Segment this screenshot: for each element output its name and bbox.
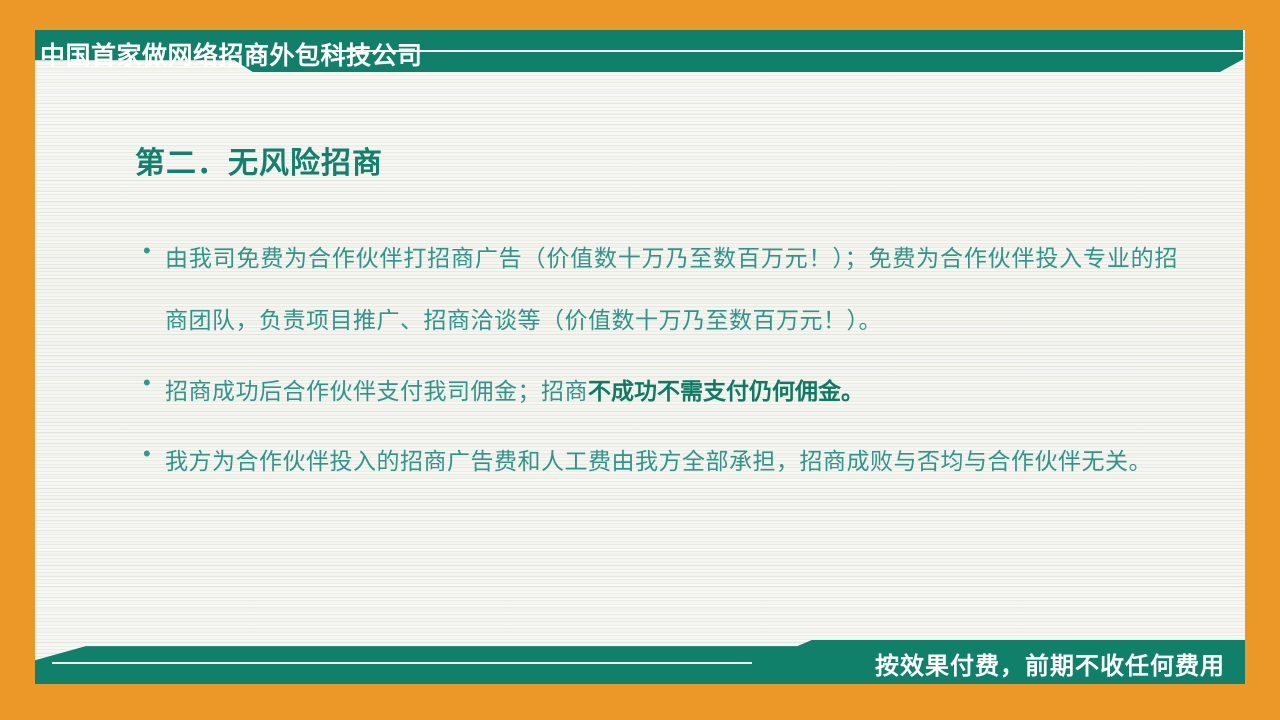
footer-divider-line [52,662,752,664]
slide-content: 第二．无风险招商 •由我司免费为合作伙伴打招商广告（价值数十万乃至数百万元！）；… [35,80,1245,620]
header-divider-line [331,50,1243,52]
slide-canvas: 中国首家做网络招商外包科技公司 第二．无风险招商 •由我司免费为合作伙伴打招商广… [0,0,1280,720]
bullet-list: •由我司免费为合作伙伴打招商广告（价值数十万乃至数百万元！）；免费为合作伙伴投入… [143,228,1178,501]
frame-edge-left [0,0,35,720]
bullet-dot-icon: • [143,228,165,262]
list-item-text: 我方为合作伙伴投入的招商广告费和人工费由我方全部承担，招商成败与否均与合作伙伴无… [165,431,1178,493]
page-title: 第二．无风险招商 [135,138,383,182]
list-item: •招商成功后合作伙伴支付我司佣金；招商不成功不需支付仍何佣金。 [143,360,1178,423]
list-item-text: 由我司免费为合作伙伴打招商广告（价值数十万乃至数百万元！）；免费为合作伙伴投入专… [165,228,1178,352]
normal-text: 由我司免费为合作伙伴打招商广告（价值数十万乃至数百万元！）；免费为合作伙伴投入专… [165,246,1178,334]
bullet-dot-icon: • [143,431,165,465]
frame-edge-right [1245,0,1280,720]
list-item-text: 招商成功后合作伙伴支付我司佣金；招商不成功不需支付仍何佣金。 [165,360,1178,423]
list-item: •我方为合作伙伴投入的招商广告费和人工费由我方全部承担，招商成败与否均与合作伙伴… [143,431,1178,493]
list-item: •由我司免费为合作伙伴打招商广告（价值数十万乃至数百万元！）；免费为合作伙伴投入… [143,228,1178,352]
header-title: 中国首家做网络招商外包科技公司 [40,36,423,72]
frame-edge-top [0,0,1280,30]
footer-tagline: 按效果付费，前期不收任何费用 [875,646,1225,681]
bullet-dot-icon: • [143,360,165,394]
normal-text: 招商成功后合作伙伴支付我司佣金；招商 [165,379,588,405]
emphasis-text: 不成功不需支付仍何佣金。 [588,378,864,404]
frame-edge-bottom [0,684,1280,720]
normal-text: 我方为合作伙伴投入的招商广告费和人工费由我方全部承担，招商成败与否均与合作伙伴无… [165,449,1152,475]
